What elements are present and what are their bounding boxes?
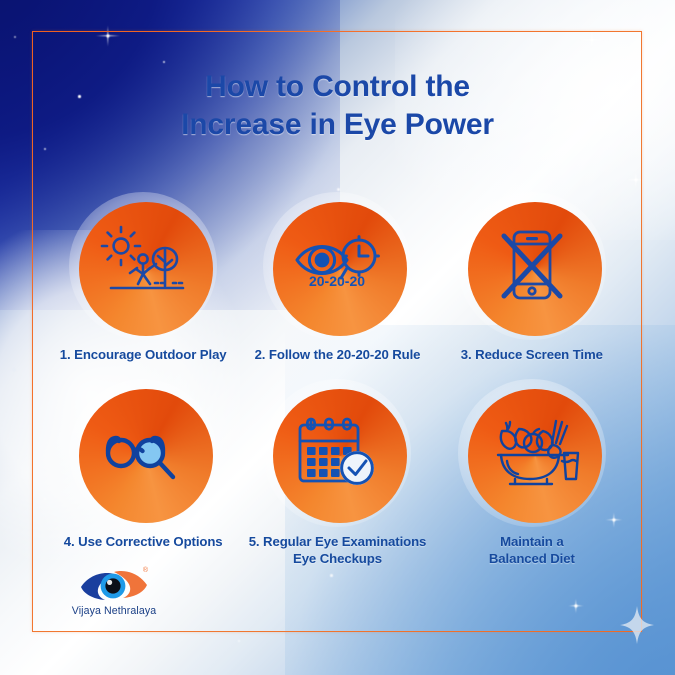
no-phone-icon xyxy=(486,226,578,306)
sparkle-dot xyxy=(14,36,16,38)
tip-card-regular-eye-exams[interactable]: 5. Regular Eye Examinations Eye Checkups xyxy=(240,383,434,568)
tip-caption-line-1: 5. Regular Eye Examinations xyxy=(249,534,427,549)
tip-card-202020-rule[interactable]: 20-20-20 2. Follow the 20-20-20 Rule xyxy=(240,196,434,364)
tip-caption-line-2: Balanced Diet xyxy=(489,551,575,566)
brand-name: Vijaya Nethralaya xyxy=(54,605,174,617)
tip-card-reduce-screen-time[interactable]: 3. Reduce Screen Time xyxy=(435,196,629,364)
sparkle-dot xyxy=(12,368,16,372)
tip-caption: 3. Reduce Screen Time xyxy=(461,346,603,364)
tip-icon-frame xyxy=(73,383,213,523)
tip-card-balanced-diet[interactable]: Maintain a Balanced Diet xyxy=(435,383,629,568)
brand-logo[interactable]: ® Vijaya Nethralaya xyxy=(54,568,174,617)
eyeglasses-magnifier-icon xyxy=(97,413,189,493)
tip-card-corrective-options[interactable]: 4. Use Corrective Options xyxy=(46,383,240,568)
tips-row-2: 4. Use Corrective Options xyxy=(46,383,629,568)
corner-sparkle-icon xyxy=(620,606,654,644)
tip-caption: 5. Regular Eye Examinations Eye Checkups xyxy=(249,533,427,568)
tip-caption: 4. Use Corrective Options xyxy=(64,533,223,551)
healthy-food-bowl-icon xyxy=(486,413,578,493)
tip-caption: 1. Encourage Outdoor Play xyxy=(60,346,227,364)
registered-mark: ® xyxy=(143,567,148,574)
tip-caption: 2. Follow the 20-20-20 Rule xyxy=(255,346,421,364)
title-line-2: Increase in Eye Power xyxy=(0,106,675,144)
eye-logo-icon: ® xyxy=(79,568,149,604)
eye-clock-icon: 20-20-20 xyxy=(291,226,383,306)
page-title: How to Control the Increase in Eye Power xyxy=(0,68,675,144)
tip-icon-frame xyxy=(462,383,602,523)
tip-icon-frame xyxy=(267,383,407,523)
poster-canvas: How to Control the Increase in Eye Power xyxy=(0,0,675,675)
tips-row-1: 1. Encourage Outdoor Play xyxy=(46,196,629,364)
tips-grid: 1. Encourage Outdoor Play xyxy=(46,196,629,568)
tip-caption: Maintain a Balanced Diet xyxy=(489,533,575,568)
outdoor-play-icon xyxy=(97,226,189,306)
tip-caption-line-1: Maintain a xyxy=(500,534,563,549)
tip-card-outdoor-play[interactable]: 1. Encourage Outdoor Play xyxy=(46,196,240,364)
tip-icon-frame: 20-20-20 xyxy=(267,196,407,336)
eye-clock-icon-label: 20-20-20 xyxy=(309,273,365,289)
tip-caption-line-2: Eye Checkups xyxy=(293,551,382,566)
tip-icon-frame xyxy=(73,196,213,336)
tip-icon-frame xyxy=(462,196,602,336)
calendar-check-icon xyxy=(291,413,383,493)
title-line-1: How to Control the xyxy=(205,70,470,103)
